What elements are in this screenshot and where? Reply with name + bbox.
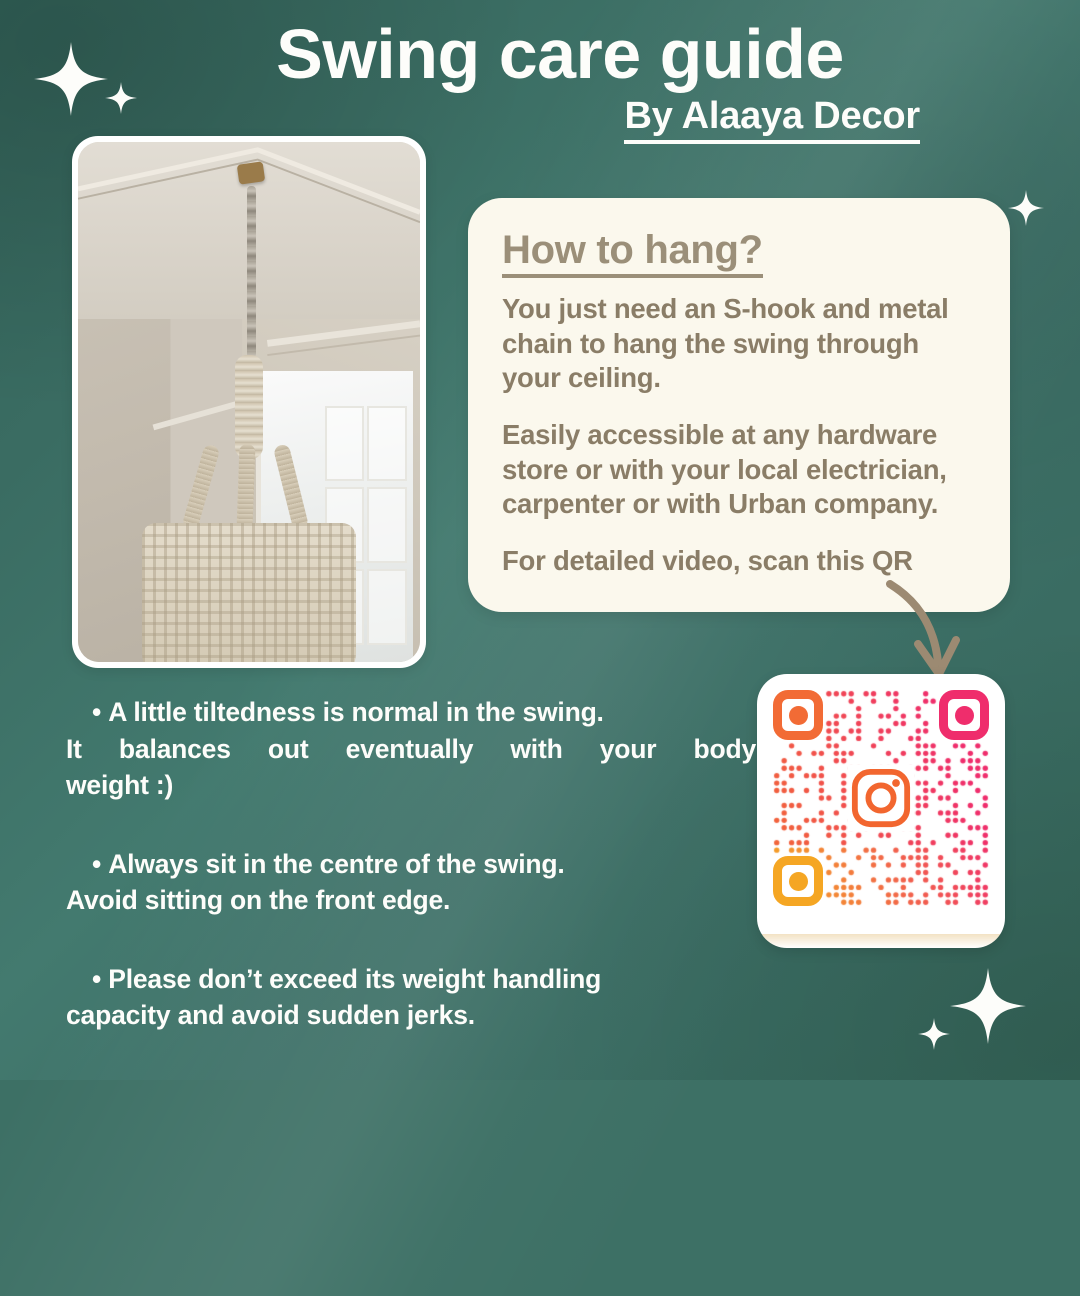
tip-bullet-2: • [92, 964, 101, 994]
qr-bottom-fade [757, 934, 1005, 948]
card-paragraph-3: For detailed video, scan this QR [502, 544, 970, 579]
instagram-icon [848, 765, 914, 831]
card-paragraph-2: Easily accessible at any hardware store … [502, 418, 970, 522]
how-to-hang-card: How to hang? You just need an S-hook and… [468, 198, 1010, 612]
tip-bullet-1: • [92, 849, 101, 879]
swing-photo-frame [72, 136, 426, 668]
tip-rest-2: capacity and avoid sudden jerks. [66, 997, 756, 1034]
tip-lead-0: A little tiltedness is normal in the swi… [108, 697, 603, 727]
qr-finder-top-right [939, 690, 989, 740]
photo-swing-body [109, 444, 389, 662]
tip-rest-1: Avoid sitting on the front edge. [66, 882, 756, 919]
card-heading: How to hang? [502, 228, 763, 278]
list-item: • A little tiltedness is normal in the s… [66, 694, 756, 804]
photo-ceiling-hook [236, 161, 265, 184]
tip-bullet-0: • [92, 697, 101, 727]
sparkle-icon-bottom-right-small [918, 1018, 950, 1050]
sparkle-icon-bottom-right-large [950, 968, 1026, 1044]
card-paragraph-1: You just need an S-hook and metal chain … [502, 292, 970, 396]
tip-lead-2: Please don’t exceed its weight handling [108, 964, 601, 994]
page-title: Swing care guide [0, 18, 1080, 92]
list-item: • Always sit in the centre of the swing.… [66, 846, 756, 919]
list-item: • Please don’t exceed its weight handlin… [66, 961, 756, 1034]
byline: By Alaaya Decor [624, 95, 920, 144]
photo-metal-chain [247, 186, 256, 358]
tip-justified-0: It balances out eventually with your bod… [66, 731, 756, 768]
qr-code[interactable] [773, 690, 989, 906]
photo-macrame-seat [142, 523, 355, 662]
swing-photo [78, 142, 420, 662]
tip-lead-1: Always sit in the centre of the swing. [108, 849, 564, 879]
instagram-qr-card[interactable] [757, 674, 1005, 948]
header: Swing care guide By Alaaya Decor [0, 18, 1080, 144]
qr-finder-top-left [773, 690, 823, 740]
tip-rest-0: weight :) [66, 767, 756, 804]
qr-finder-bottom-left [773, 856, 823, 906]
care-tips-list: • A little tiltedness is normal in the s… [66, 694, 756, 1034]
sparkle-icon-card-top-right [1008, 190, 1044, 226]
